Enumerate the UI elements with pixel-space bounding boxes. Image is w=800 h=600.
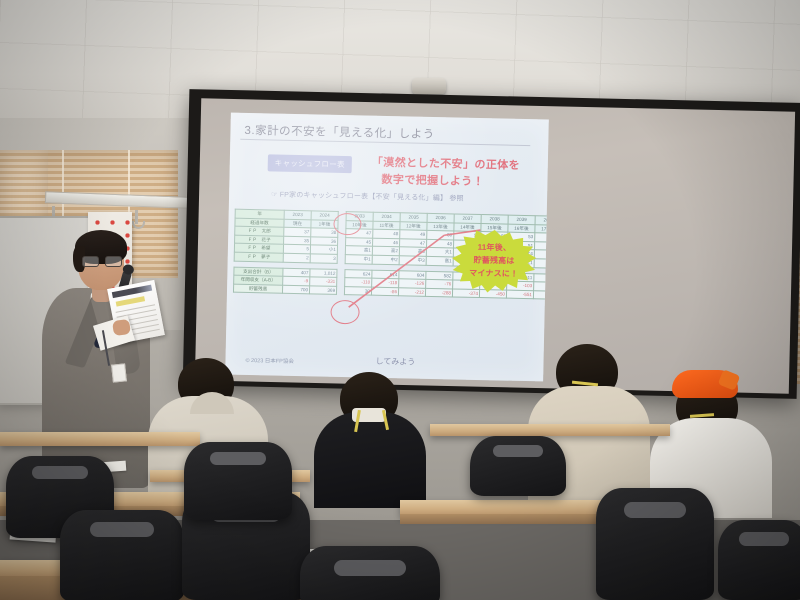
desk-back-right xyxy=(430,424,670,436)
callout-line-3: マイナスに！ xyxy=(452,266,536,281)
seminar-room-photo: 3.家計の不安を「見える化」しよう キャッシュフロー表 「漠然とした不安」の正体… xyxy=(0,0,800,600)
column-gap xyxy=(337,278,345,287)
ceiling-speaker xyxy=(412,78,446,94)
table-cell: 369 xyxy=(309,286,336,295)
highlight-circle-balance xyxy=(330,300,360,325)
slide-headline-line1: 「漠然とした不安」の正体を xyxy=(372,154,521,173)
chair-handle-cutout xyxy=(739,532,789,546)
chair xyxy=(60,510,184,600)
slide-copyright: © 2023 日本FP協会 xyxy=(245,356,294,365)
starburst-text: 11年後、 貯蓄残高は マイナスに！ xyxy=(452,240,537,281)
row-label: 貯蓄残高 xyxy=(233,284,282,294)
table-cell: 700 xyxy=(282,285,309,294)
chair-handle-cutout xyxy=(334,560,406,576)
chair-handle-cutout xyxy=(493,445,543,457)
column-gap xyxy=(337,254,345,263)
column-gap xyxy=(337,246,345,255)
chair-handle-cutout xyxy=(624,502,686,518)
chair xyxy=(596,488,714,600)
column-gap xyxy=(338,237,346,246)
slide-footer-note: してみよう xyxy=(375,356,415,368)
table-cell: -212 xyxy=(398,288,425,297)
rail-hook xyxy=(135,210,138,224)
slide-tag-badge: キャッシュフロー表 xyxy=(268,154,352,173)
handout-highlight xyxy=(116,296,145,306)
chair xyxy=(184,442,292,520)
starburst-callout: 11年後、 貯蓄残高は マイナスに！ xyxy=(451,229,536,297)
chair-handle-cutout xyxy=(90,522,154,537)
column-gap xyxy=(337,269,345,278)
handout-header-bar xyxy=(112,285,153,299)
table-cell: -86 xyxy=(371,287,398,296)
desk-back-left xyxy=(0,432,200,446)
name-badge xyxy=(111,363,127,382)
chair-handle-cutout xyxy=(32,466,88,479)
chair-handle-cutout xyxy=(210,452,266,465)
audience-top xyxy=(314,412,426,508)
table-cell: 30 xyxy=(344,286,371,295)
chair xyxy=(300,546,440,600)
chair xyxy=(718,520,800,600)
glasses-icon xyxy=(82,256,122,265)
slide-headline-line2: 数字で把握しよう！ xyxy=(381,171,484,189)
chair xyxy=(470,436,566,496)
slide-tag-label: キャッシュフロー表 xyxy=(275,158,345,171)
column-gap xyxy=(336,286,344,295)
row-label: 年間収支（A-B） xyxy=(234,275,283,285)
table-cell: -288 xyxy=(425,288,452,297)
slide-reference-note: ☞ FP家のキャッシュフロー表【不安「見える化」編】 参照 xyxy=(271,189,464,203)
